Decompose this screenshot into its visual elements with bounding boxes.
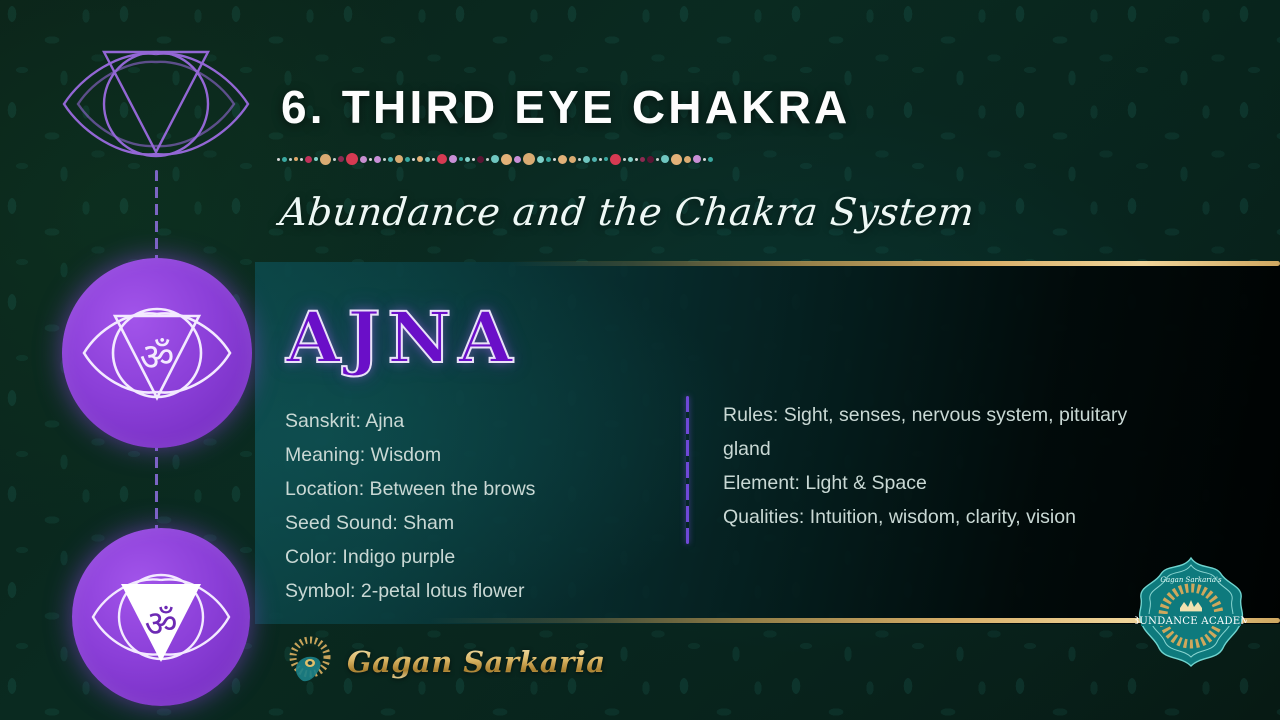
divider-dot: [346, 153, 358, 165]
divider-dot: [684, 156, 691, 163]
chakra-connector-line-bottom: [155, 440, 158, 532]
divider-dot: [374, 156, 381, 163]
divider-dot: [501, 154, 512, 165]
divider-dot: [465, 157, 470, 162]
svg-text:ॐ: ॐ: [140, 335, 175, 379]
details-column-right: Rules: Sight, senses, nervous system, pi…: [723, 398, 1175, 534]
divider-dot: [432, 158, 435, 161]
divider-dot: [623, 158, 626, 161]
divider-dot: [305, 156, 312, 163]
divider-dot: [477, 156, 484, 163]
divider-dot: [647, 156, 654, 163]
divider-dot: [599, 158, 602, 161]
badge-name-text: ABUNDANCE ACADEMY: [1135, 616, 1247, 627]
divider-dot: [546, 157, 551, 162]
divider-dot: [491, 155, 499, 163]
divider-dot: [583, 156, 590, 163]
svg-text:ॐ: ॐ: [145, 604, 178, 645]
decorative-dot-divider: [277, 150, 844, 168]
divider-dot: [553, 158, 556, 161]
peacock-mandala-icon: [283, 633, 341, 691]
divider-dot: [314, 157, 318, 161]
detail-line: Symbol: 2-petal lotus flower: [285, 574, 655, 608]
detail-line: Seed Sound: Sham: [285, 506, 655, 540]
divider-dot: [388, 157, 393, 162]
details-column-left: Sanskrit: AjnaMeaning: WisdomLocation: B…: [285, 404, 655, 608]
divider-dot: [405, 157, 410, 162]
divider-dot: [338, 156, 344, 162]
divider-dot: [656, 158, 659, 161]
divider-dot: [708, 157, 713, 162]
gold-divider-top: [510, 261, 1280, 266]
divider-dot: [360, 156, 367, 163]
divider-dot: [486, 158, 489, 161]
divider-dot: [459, 157, 463, 161]
divider-dot: [569, 156, 576, 163]
author-name: Gagan Sarkaria: [347, 645, 605, 679]
divider-dot: [628, 157, 633, 162]
ajna-lineart-symbol-icon: [56, 34, 256, 174]
divider-dot: [383, 158, 386, 161]
divider-dot: [703, 158, 706, 161]
divider-dot: [282, 157, 287, 162]
divider-dot: [425, 157, 430, 162]
badge-top-text: Gagan Sarkaria's: [1160, 576, 1222, 584]
divider-dot: [437, 154, 447, 164]
divider-dot: [578, 158, 581, 161]
divider-dot: [514, 156, 521, 163]
divider-dot: [395, 155, 403, 163]
column-divider: [686, 396, 689, 544]
divider-dot: [320, 154, 331, 165]
detail-line: Sanskrit: Ajna: [285, 404, 655, 438]
chakra-circle-middle: ॐ: [62, 258, 252, 448]
divider-dot: [472, 158, 475, 161]
divider-dot: [610, 154, 621, 165]
page-subtitle: Abundance and the Chakra System: [278, 190, 977, 234]
divider-dot: [300, 158, 303, 161]
detail-line: Location: Between the brows: [285, 472, 655, 506]
divider-dot: [449, 155, 457, 163]
slide-canvas: 6. THIRD EYE CHAKRA Abundance and the Ch…: [0, 0, 1280, 720]
abundance-academy-badge: Gagan Sarkaria's ABUNDANCE ACADEMY: [1135, 556, 1247, 668]
divider-dot: [671, 154, 682, 165]
author-logo: Gagan Sarkaria: [283, 633, 605, 691]
divider-dot: [289, 158, 292, 161]
divider-dot: [369, 158, 372, 161]
divider-dot: [417, 156, 423, 162]
detail-line: Color: Indigo purple: [285, 540, 655, 574]
ajna-symbol-icon: ॐ: [62, 258, 252, 448]
detail-line: Qualities: Intuition, wisdom, clarity, v…: [723, 500, 1175, 534]
page-title: 6. THIRD EYE CHAKRA: [281, 80, 850, 134]
divider-dot: [635, 158, 638, 161]
divider-dot: [661, 155, 669, 163]
divider-dot: [537, 156, 544, 163]
detail-line: Element: Light & Space: [723, 466, 1175, 500]
ajna-symbol-filled-icon: ॐ: [72, 528, 250, 706]
divider-dot: [558, 155, 567, 164]
divider-dot: [693, 155, 701, 163]
divider-dot: [294, 157, 298, 161]
chakra-connector-line-top: [155, 170, 158, 262]
detail-line: Rules: Sight, senses, nervous system, pi…: [723, 398, 1175, 466]
chakra-name-heading: AJNA: [286, 296, 520, 379]
chakra-circle-bottom: ॐ: [72, 528, 250, 706]
divider-dot: [640, 157, 645, 162]
divider-dot: [592, 157, 597, 162]
divider-dot: [523, 153, 535, 165]
divider-dot: [277, 158, 280, 161]
divider-dot: [604, 157, 608, 161]
divider-dot: [412, 158, 415, 161]
detail-line: Meaning: Wisdom: [285, 438, 655, 472]
divider-dot: [333, 158, 336, 161]
